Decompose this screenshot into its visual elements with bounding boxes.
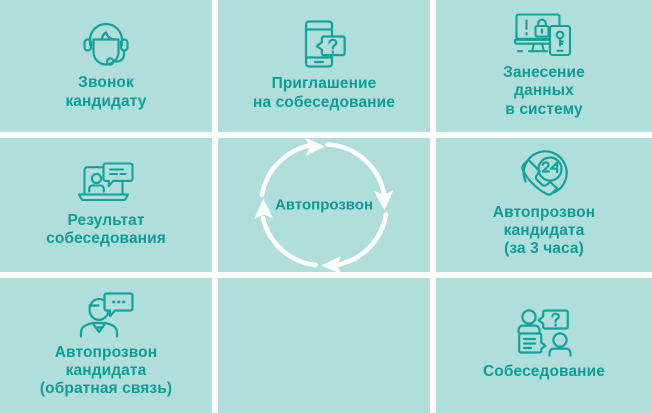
- process-diagram-grid: Звонок кандидату Приглашение на собеседо…: [0, 0, 652, 413]
- center-label: Автопрозвон: [218, 197, 430, 214]
- cell-label: Занесение данных в систему: [503, 64, 585, 118]
- cell-empty-bottom-center: [218, 278, 430, 413]
- cell-label: Собеседование: [483, 363, 605, 381]
- phone-handset-24-icon: [516, 150, 572, 198]
- cell-avtoprozvon-obratnaya-svyaz[interactable]: Автопрозвон кандидата (обратная связь): [0, 278, 212, 413]
- cell-avtoprozvon-kandidata-3-chasa[interactable]: Автопрозвон кандидата (за 3 часа): [436, 138, 652, 272]
- cell-rezultat-sobesedovaniya[interactable]: Результат собеседования: [0, 138, 212, 272]
- smartphone-question-bubble-icon: [296, 18, 352, 70]
- cell-priglashenie-na-sobesedovanie[interactable]: Приглашение на собеседование: [218, 0, 430, 132]
- cell-label: Приглашение на собеседование: [253, 75, 395, 111]
- cell-zanesenie-dannyh-v-sistemu[interactable]: Занесение данных в систему: [436, 0, 652, 132]
- cell-label: Звонок кандидату: [65, 74, 146, 110]
- person-speech-bubble-icon: [75, 291, 137, 339]
- laptop-person-chat-icon: [75, 160, 137, 206]
- cell-label: Результат собеседования: [46, 212, 166, 248]
- two-people-question-document-icon: [513, 308, 575, 358]
- cell-label: Автопрозвон кандидата (обратная связь): [40, 344, 172, 398]
- cell-sobesedovanie[interactable]: Собеседование: [436, 278, 652, 413]
- cell-center-avtoprozvon[interactable]: Автопрозвон: [218, 138, 430, 272]
- cell-zvonok-kandidatu[interactable]: Звонок кандидату: [0, 0, 212, 132]
- cell-label: Автопрозвон кандидата (за 3 часа): [493, 204, 595, 258]
- headset-operator-icon: [77, 19, 135, 69]
- monitor-lock-phone-key-icon: [512, 11, 576, 59]
